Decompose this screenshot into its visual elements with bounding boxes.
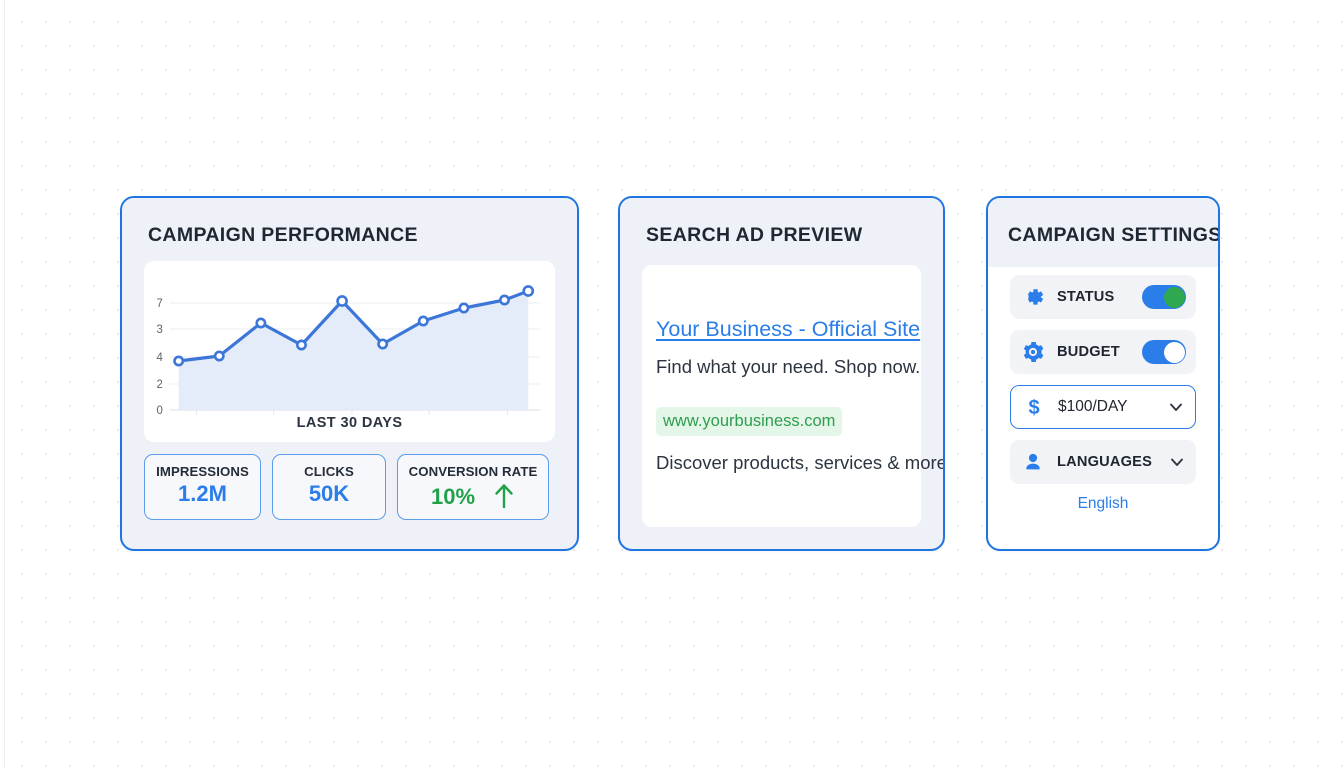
metric-conversion-rate[interactable]: CONVERSION RATE 10% (397, 454, 549, 520)
gear-settings-icon (1020, 339, 1046, 365)
metric-value: 50K (283, 482, 375, 505)
dashboard-board: CAMPAIGN PERFORMANCE (0, 0, 1344, 768)
metric-label: IMPRESSIONS (155, 464, 250, 479)
metric-label: CONVERSION RATE (408, 464, 538, 479)
performance-card-header: CAMPAIGN PERFORMANCE (122, 198, 577, 261)
settings-title: CAMPAIGN SETTINGS (1008, 224, 1198, 247)
chevron-down-icon[interactable] (1168, 453, 1186, 471)
budget-toggle[interactable] (1142, 340, 1186, 364)
page-title: CAMPAIGN PERFORMANCE (148, 224, 551, 247)
metric-clicks[interactable]: CLICKS 50K (272, 454, 386, 520)
metric-impressions[interactable]: IMPRESSIONS 1.2M (144, 454, 261, 520)
ad-description: Find what your need. Shop now. (642, 356, 921, 378)
budget-amount-value: $100/DAY (1058, 398, 1128, 416)
gear-icon (1020, 284, 1046, 310)
dollar-icon: $ (1021, 394, 1047, 420)
metrics-row: IMPRESSIONS 1.2M CLICKS 50K CONVERSION R… (144, 454, 555, 520)
person-icon (1020, 449, 1046, 475)
metric-value: 10% (431, 485, 475, 508)
settings-card-header: CAMPAIGN SETTINGS (988, 198, 1218, 267)
chart-area-fill (179, 291, 529, 410)
svg-text:0: 0 (156, 405, 162, 417)
status-toggle[interactable] (1142, 285, 1186, 309)
setting-row-budget[interactable]: BUDGET (1010, 330, 1196, 374)
languages-label: LANGUAGES (1057, 454, 1152, 470)
svg-text:$: $ (1028, 397, 1039, 419)
toggle-knob (1164, 342, 1185, 363)
setting-label-budget: BUDGET (1057, 344, 1120, 360)
ad-headline-link[interactable]: Your Business - Official Site (642, 317, 934, 341)
chart-svg: 7 3 4 2 0 (144, 271, 555, 419)
languages-dropdown[interactable]: LANGUAGES (1010, 440, 1196, 484)
budget-amount-dropdown[interactable]: $ $100/DAY (1010, 385, 1196, 429)
setting-row-status[interactable]: STATUS (1010, 275, 1196, 319)
svg-text:7: 7 (156, 298, 162, 310)
performance-chart: 7 3 4 2 0 (144, 271, 555, 419)
ad-preview-panel: Your Business - Official Site Find what … (642, 265, 921, 527)
ad-preview-title: SEARCH AD PREVIEW (646, 224, 917, 247)
settings-body: STATUS BUDGET (988, 267, 1218, 513)
selected-language[interactable]: English (1010, 495, 1196, 513)
setting-label-status: STATUS (1057, 289, 1114, 305)
chart-y-tick-labels: 7 3 4 2 0 (156, 298, 163, 417)
metric-value: 1.2M (155, 482, 250, 505)
chart-x-ticks (196, 410, 507, 415)
svg-text:2: 2 (156, 379, 162, 391)
ad-preview-card-header: SEARCH AD PREVIEW (620, 198, 943, 265)
svg-text:3: 3 (156, 324, 162, 336)
metric-label: CLICKS (283, 464, 375, 479)
campaign-performance-card: CAMPAIGN PERFORMANCE (120, 196, 579, 551)
up-arrow-icon (493, 482, 515, 508)
chevron-down-icon[interactable] (1167, 398, 1185, 416)
campaign-settings-card: CAMPAIGN SETTINGS STATUS (986, 196, 1220, 551)
ad-description-secondary: Discover products, services & more. (642, 452, 921, 474)
performance-chart-panel: 7 3 4 2 0 (144, 261, 555, 442)
ad-url-chip[interactable]: www.yourbusiness.com (656, 407, 842, 436)
svg-text:4: 4 (156, 352, 163, 364)
search-ad-preview-card: SEARCH AD PREVIEW Your Business - Offici… (618, 196, 945, 551)
toggle-knob (1164, 287, 1185, 308)
